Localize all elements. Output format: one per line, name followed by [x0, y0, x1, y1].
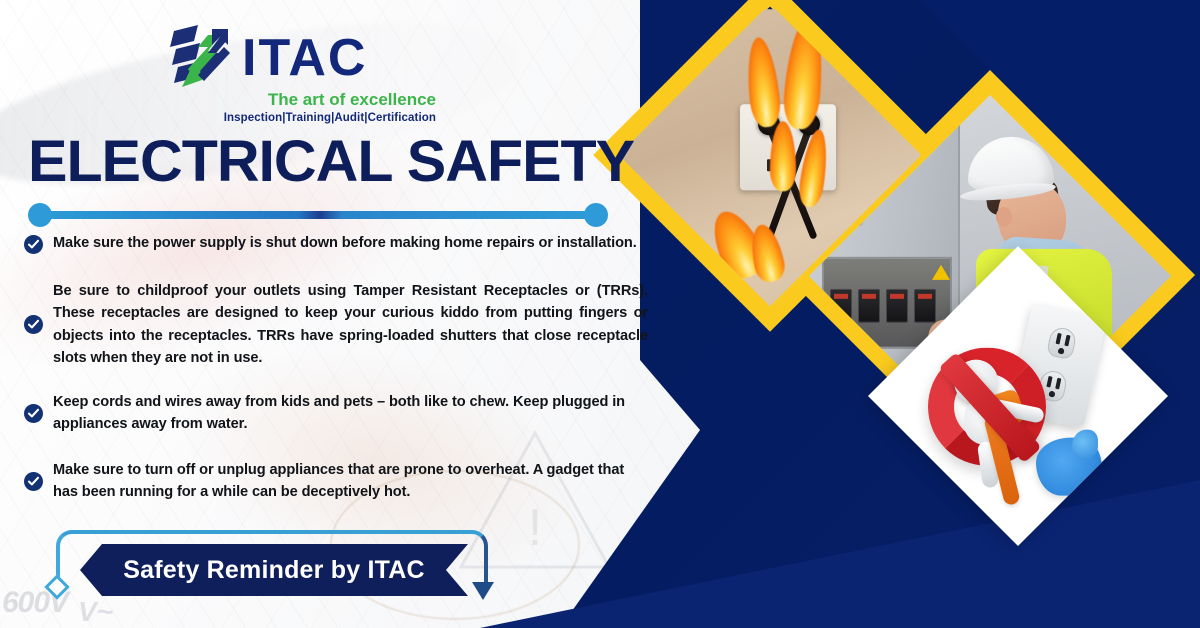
shield-arrows-icon — [168, 23, 240, 93]
list-item: Make sure to turn off or unplug applianc… — [24, 459, 648, 503]
circuit-breaker — [886, 289, 908, 323]
divider-dot-icon — [584, 203, 608, 227]
safety-reminder-label: Safety Reminder by ITAC — [123, 556, 424, 585]
logo-services: Inspection|Training|Audit|Certification — [168, 112, 438, 124]
safety-reminder-banner[interactable]: Safety Reminder by ITAC — [80, 544, 468, 596]
list-item: Keep cords and wires away from kids and … — [24, 391, 648, 435]
logo-wordmark: ITAC — [242, 32, 367, 84]
page-title: ELECTRICAL SAFETY — [28, 133, 634, 191]
divider — [28, 203, 608, 227]
list-item-text: Make sure to turn off or unplug applianc… — [53, 459, 648, 503]
list-item-text: Make sure the power supply is shut down … — [53, 232, 637, 254]
check-circle-icon — [24, 315, 43, 334]
list-item: Be sure to childproof your outlets using… — [24, 280, 648, 369]
divider-dot-icon — [28, 203, 52, 227]
worker-ear — [996, 207, 1012, 227]
check-circle-icon — [24, 235, 43, 254]
check-circle-icon — [24, 472, 43, 491]
water-splash-icon — [1072, 430, 1098, 460]
circuit-breaker — [914, 289, 936, 323]
list-item-text: Keep cords and wires away from kids and … — [53, 391, 648, 435]
infographic-canvas: ! 600V V~ — [0, 0, 1200, 628]
safety-reminder-section: Safety Reminder by ITAC — [40, 524, 560, 614]
circuit-breaker — [858, 289, 880, 323]
content-column: ITAC The art of excellence Inspection|Tr… — [0, 0, 680, 628]
safety-tips-list: Make sure the power supply is shut down … — [24, 232, 648, 522]
arrow-down-icon — [472, 582, 494, 600]
list-item-text: Be sure to childproof your outlets using… — [53, 280, 648, 369]
list-item: Make sure the power supply is shut down … — [24, 232, 648, 254]
outlet-receptacle — [1046, 326, 1078, 361]
divider-line — [42, 211, 598, 219]
itac-logo[interactable]: ITAC The art of excellence Inspection|Tr… — [168, 22, 438, 132]
warning-triangle-icon — [932, 265, 950, 280]
check-circle-icon — [24, 404, 43, 423]
